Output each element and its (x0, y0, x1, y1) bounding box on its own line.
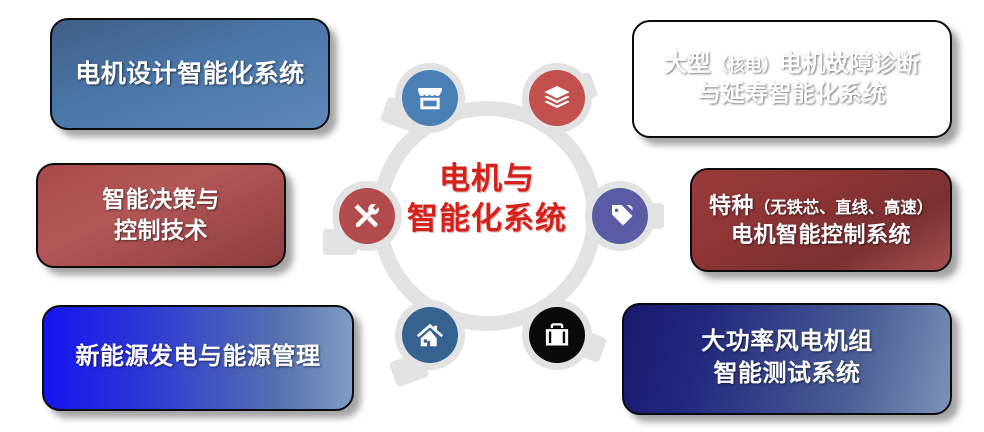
box-fault-diagnosis-l1-rest: 电机故障诊断 (779, 51, 920, 76)
box-fault-diagnosis[interactable]: 大型（核电）电机故障诊断 与延寿智能化系统 (632, 20, 952, 138)
icon-disc-tools[interactable] (339, 188, 395, 244)
box-intelligent-decision[interactable]: 智能决策与 控制技术 (36, 163, 286, 268)
home-icon (415, 320, 445, 350)
node-layers[interactable] (522, 63, 592, 133)
box-fault-diagnosis-line-2: 与延寿智能化系统 (664, 79, 920, 109)
box-fault-diagnosis-l1-main: 大型 (664, 51, 711, 76)
box-special-motor-control-line-2: 电机智能控制系统 (709, 220, 933, 249)
node-home[interactable] (395, 300, 465, 370)
icon-disc-home[interactable] (402, 307, 458, 363)
diagram-canvas: 电机设计智能化系统 智能决策与 控制技术 新能源发电与能源管理 大型（核电）电机… (0, 0, 984, 432)
box-special-l1-paren: （无铁芯、直线、高速） (754, 198, 933, 217)
node-tag[interactable] (585, 181, 655, 251)
center-title: 电机与 智能化系统 (380, 160, 594, 239)
node-store[interactable] (395, 63, 465, 133)
icon-disc-tag[interactable] (592, 188, 648, 244)
center-title-line-2: 智能化系统 (380, 200, 594, 240)
box-motor-design[interactable]: 电机设计智能化系统 (50, 18, 330, 130)
layers-icon (542, 83, 572, 113)
icon-disc-briefcase[interactable] (529, 307, 585, 363)
box-special-l1-main: 特种 (709, 193, 754, 218)
node-tools[interactable] (332, 181, 402, 251)
store-icon (415, 83, 445, 113)
tag-icon (605, 201, 635, 231)
box-intelligent-decision-line-2: 控制技术 (102, 216, 220, 246)
box-new-energy-line-1: 新能源发电与能源管理 (76, 342, 321, 374)
box-wind-power-test[interactable]: 大功率风电机组 智能测试系统 (622, 303, 952, 415)
box-motor-design-line-1: 电机设计智能化系统 (75, 58, 305, 91)
box-wind-power-test-line-1: 大功率风电机组 (701, 327, 873, 359)
box-intelligent-decision-line-1: 智能决策与 (102, 185, 220, 215)
node-briefcase[interactable] (522, 300, 592, 370)
box-fault-diagnosis-line-1: 大型（核电）电机故障诊断 (664, 49, 920, 79)
box-new-energy[interactable]: 新能源发电与能源管理 (42, 305, 354, 411)
box-fault-diagnosis-l1-paren: （核电） (711, 56, 779, 75)
box-special-motor-control[interactable]: 特种（无铁芯、直线、高速） 电机智能控制系统 (690, 168, 952, 272)
box-wind-power-test-line-2: 智能测试系统 (701, 359, 873, 391)
icon-disc-layers[interactable] (529, 70, 585, 126)
briefcase-icon (542, 320, 572, 350)
icon-disc-store[interactable] (402, 70, 458, 126)
center-title-line-1: 电机与 (380, 160, 594, 200)
tools-icon (352, 201, 382, 231)
box-special-motor-control-line-1: 特种（无铁芯、直线、高速） (709, 191, 933, 220)
